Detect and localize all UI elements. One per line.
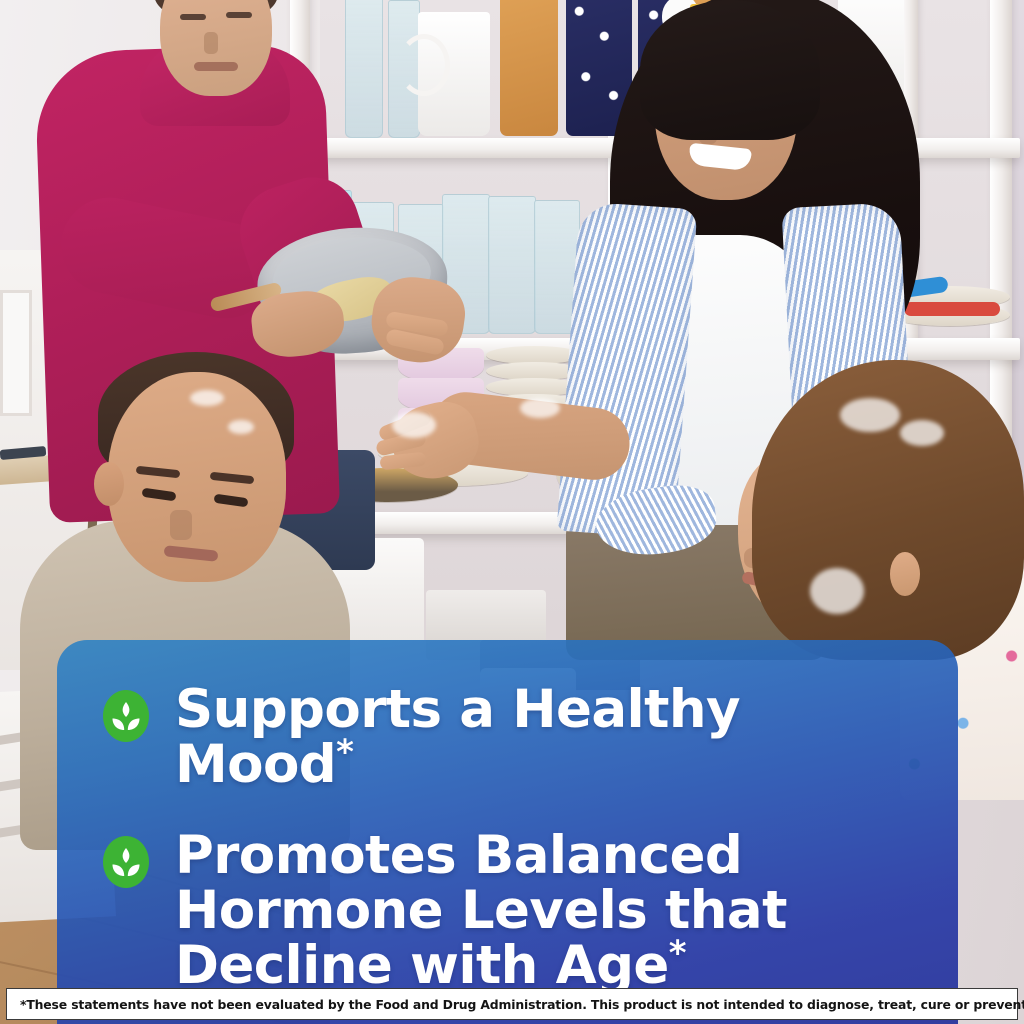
leaf-sprout-icon	[103, 836, 149, 888]
asterisk-marker: *	[669, 934, 686, 974]
benefits-callout-panel: Supports a Healthy Mood* Promotes Balanc…	[57, 640, 958, 1024]
fda-disclaimer-text: *These statements have not been evaluate…	[20, 997, 1024, 1012]
benefit-text-1: Supports a Healthy Mood*	[175, 682, 918, 792]
benefit-text-2: Promotes Balanced Hormone Levels that De…	[175, 828, 787, 993]
ad-creative-canvas: Supports a Healthy Mood* Promotes Balanc…	[0, 0, 1024, 1024]
girl-ear	[890, 552, 920, 596]
benefit-text-2-line-1: Promotes Balanced	[175, 828, 787, 883]
leaf-sprout-icon	[103, 690, 149, 742]
benefit-bullet-1: Supports a Healthy Mood*	[103, 682, 918, 792]
callout-content: Supports a Healthy Mood* Promotes Balanc…	[57, 640, 958, 1024]
fda-disclaimer-bar: *These statements have not been evaluate…	[6, 988, 1018, 1020]
benefit-text-2-line-2: Hormone Levels that	[175, 883, 787, 938]
benefit-bullet-2: Promotes Balanced Hormone Levels that De…	[103, 828, 918, 993]
asterisk-marker: *	[336, 732, 353, 772]
benefit-text-2-line-3: Decline with Age*	[175, 938, 787, 993]
